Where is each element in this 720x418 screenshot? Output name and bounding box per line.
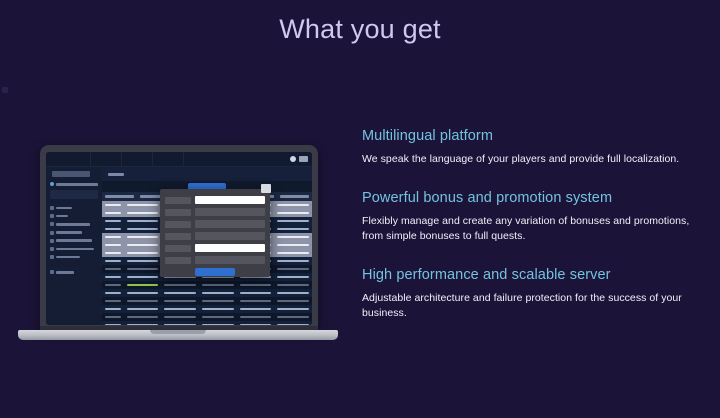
sidebar-item-label: [56, 223, 90, 226]
sidebar-item-label: [56, 256, 80, 259]
nav-icon: [50, 270, 54, 274]
nav-icon: [50, 247, 54, 251]
app-sidebar: [46, 167, 102, 325]
nav-icon: [50, 239, 54, 243]
feature-heading: Multilingual platform: [362, 128, 710, 144]
feature-heading: High performance and scalable server: [362, 267, 710, 283]
sidebar-divider: [50, 263, 98, 270]
form-row: [165, 220, 265, 228]
field-label: [165, 209, 191, 216]
field-label: [165, 245, 191, 252]
field-label: [165, 197, 191, 204]
table-row[interactable]: [102, 305, 312, 313]
sidebar-item-1[interactable]: [50, 206, 98, 210]
field-input[interactable]: [195, 196, 265, 204]
sidebar-item-footer[interactable]: [50, 270, 98, 274]
laptop-base-notch: [150, 330, 206, 334]
form-row: [165, 256, 265, 264]
feature-body: Adjustable architecture and failure prot…: [362, 291, 710, 321]
sidebar-item-label: [56, 231, 82, 234]
field-label: [165, 257, 191, 264]
sidebar-item-3[interactable]: [50, 222, 98, 226]
sidebar-search-input[interactable]: [50, 190, 98, 199]
modal-submit-button[interactable]: [195, 268, 235, 276]
brand-logo: [52, 171, 90, 177]
table-row-highlighted[interactable]: [102, 281, 312, 289]
sidebar-item-label: [56, 239, 92, 242]
form-row: [165, 208, 265, 216]
field-input[interactable]: [195, 208, 265, 216]
edge-artifact: [2, 87, 8, 93]
table-header-cell: [280, 195, 309, 198]
content-title: [108, 173, 124, 176]
field-label: [165, 221, 191, 228]
sidebar-item-label: [56, 271, 74, 274]
table-row[interactable]: [102, 289, 312, 297]
feature-item-multilingual: Multilingual platform We speak the langu…: [362, 128, 710, 167]
table-row[interactable]: [102, 313, 312, 321]
nav-icon: [50, 255, 54, 259]
sidebar-item-2[interactable]: [50, 214, 98, 218]
sidebar-item-5[interactable]: [50, 239, 98, 243]
table-row[interactable]: [102, 297, 312, 305]
field-select[interactable]: [195, 244, 265, 252]
form-row: [165, 244, 265, 252]
laptop-mockup: [18, 145, 338, 350]
account-row[interactable]: [50, 182, 98, 186]
circle-icon[interactable]: [290, 156, 296, 162]
account-label: [56, 183, 98, 186]
sidebar-item-label: [56, 248, 94, 251]
field-input[interactable]: [195, 256, 265, 264]
nav-icon: [50, 231, 54, 235]
modal-dialog: [160, 189, 270, 277]
form-row: [165, 196, 265, 204]
feature-list: Multilingual platform We speak the langu…: [362, 128, 710, 321]
feature-body: We speak the language of your players an…: [362, 152, 710, 167]
sidebar-item-label: [56, 207, 72, 210]
laptop-lid: [40, 145, 318, 331]
admin-dashboard-app: [46, 152, 312, 325]
field-input[interactable]: [195, 220, 265, 228]
laptop-base: [18, 330, 338, 340]
nav-icon: [50, 214, 54, 218]
feature-item-bonus-system: Powerful bonus and promotion system Flex…: [362, 190, 710, 244]
field-label: [165, 233, 191, 240]
nav-icon: [50, 222, 54, 226]
nav-icon: [50, 206, 54, 210]
app-topbar: [46, 152, 312, 167]
sidebar-item-label: [56, 215, 68, 218]
topbar-dividers: [50, 152, 287, 167]
table-header-cell: [105, 195, 134, 198]
page-title: What you get: [0, 14, 720, 45]
sidebar-item-7[interactable]: [50, 255, 98, 259]
sidebar-item-4[interactable]: [50, 231, 98, 235]
laptop-screen: [46, 152, 312, 325]
content-header: [102, 167, 312, 181]
account-avatar-icon: [50, 182, 54, 186]
badge-icon[interactable]: [299, 156, 308, 162]
feature-heading: Powerful bonus and promotion system: [362, 190, 710, 206]
feature-item-performance: High performance and scalable server Adj…: [362, 267, 710, 321]
close-icon[interactable]: [261, 184, 271, 193]
sidebar-item-6[interactable]: [50, 247, 98, 251]
feature-body: Flexibly manage and create any variation…: [362, 214, 710, 244]
form-row: [165, 232, 265, 240]
table-row[interactable]: [102, 321, 312, 325]
field-input[interactable]: [195, 232, 265, 240]
app-content: [102, 167, 312, 325]
app-body: [46, 167, 312, 325]
